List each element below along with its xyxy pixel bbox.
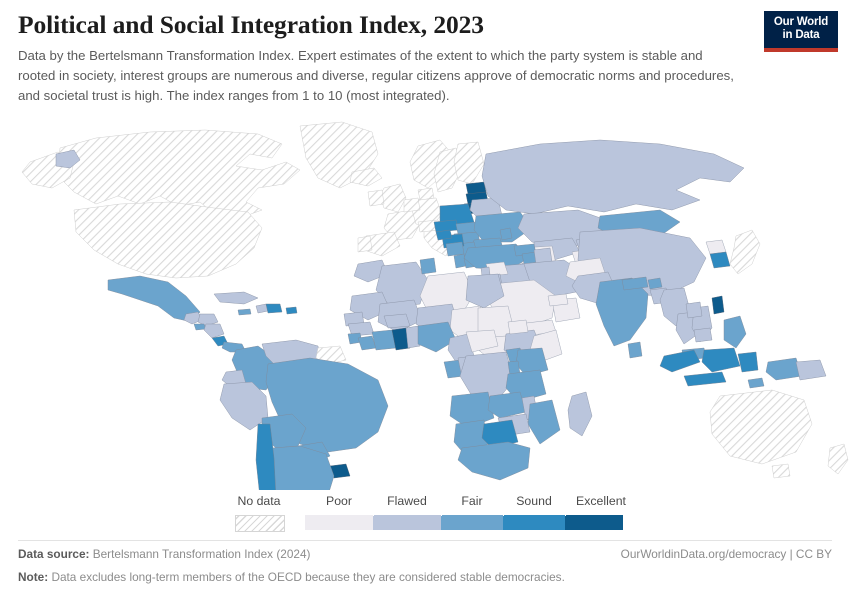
legend-label-sound: Sound — [503, 494, 565, 508]
country-bhutan — [648, 278, 662, 289]
country-denmark — [418, 188, 434, 200]
country-cambodia — [694, 328, 712, 342]
country-portugal — [358, 236, 372, 252]
country-indonesia-borneo — [702, 348, 740, 372]
footer-note-text: Data excludes long-term members of the O… — [51, 570, 564, 584]
country-indonesia-sumatra — [660, 350, 700, 372]
country-russia — [482, 140, 744, 214]
footer-attribution[interactable]: OurWorldinData.org/democracy | CC BY — [621, 545, 832, 563]
footer-source-label: Data source: — [18, 547, 89, 561]
legend-tick-3 — [503, 511, 504, 516]
country-philippines — [724, 316, 746, 348]
country-puerto-rico — [286, 307, 297, 314]
country-cuba — [214, 292, 258, 304]
footer-source-row: Data source: Bertelsmann Transformation … — [18, 545, 832, 563]
country-netherlands-belgium — [404, 198, 420, 212]
country-south-korea — [710, 252, 730, 268]
world-map-svg[interactable] — [0, 118, 850, 490]
legend-tick-2 — [441, 511, 442, 516]
owid-logo[interactable]: Our World in Data — [764, 11, 838, 52]
legend-label-no-data: No data — [227, 494, 291, 508]
legend-swatch-sound[interactable] — [503, 515, 565, 530]
country-australia — [710, 390, 812, 464]
region-north-america[interactable] — [22, 122, 378, 322]
country-slovenia — [436, 230, 452, 240]
page-title: Political and Social Integration Index, … — [18, 10, 758, 40]
legend-swatch-no-data[interactable] — [235, 515, 285, 532]
legend-label-excellent: Excellent — [565, 494, 637, 508]
country-albania — [454, 254, 466, 268]
legend-swatch-poor[interactable] — [305, 515, 373, 530]
country-indonesia-papua — [766, 358, 802, 380]
country-south-africa — [458, 442, 530, 480]
country-czechia — [434, 220, 458, 232]
country-tasmania — [772, 464, 790, 478]
country-united-states — [74, 202, 262, 278]
world-map[interactable] — [0, 118, 850, 490]
region-oceania[interactable] — [710, 390, 848, 478]
country-japan — [730, 230, 760, 274]
country-uae — [548, 294, 568, 306]
country-tunisia — [420, 258, 436, 274]
country-burkina-faso — [384, 314, 410, 328]
country-timor-leste — [748, 378, 764, 388]
country-united-kingdom — [380, 184, 406, 212]
legend-tick-1 — [373, 511, 374, 516]
country-bosnia — [446, 242, 464, 256]
legend-label-poor: Poor — [305, 494, 373, 508]
legend-tick-4 — [565, 511, 566, 516]
legend-swatch-flawed[interactable] — [373, 515, 441, 530]
owid-logo-line2: in Data — [768, 29, 834, 42]
footer-note: Note: Data excludes long-term members of… — [18, 568, 832, 586]
country-finland — [454, 142, 484, 184]
owid-logo-rule — [764, 48, 838, 52]
country-indonesia-sulawesi — [738, 352, 758, 372]
region-south-america[interactable] — [220, 340, 388, 490]
country-nicaragua — [204, 324, 224, 338]
country-jamaica — [238, 309, 251, 315]
legend-label-flawed: Flawed — [373, 494, 441, 508]
legend-swatch-excellent[interactable] — [565, 515, 623, 530]
map-legend: No data Poor Flawed Fair Sound Excellent — [0, 494, 850, 536]
footer-source: Data source: Bertelsmann Transformation … — [18, 545, 310, 563]
country-taiwan — [712, 296, 724, 314]
owid-logo-line1: Our World — [768, 16, 834, 29]
legend-label-fair: Fair — [441, 494, 503, 508]
footer-divider — [18, 540, 832, 541]
country-laos — [686, 302, 702, 318]
footer-note-label: Note: — [18, 570, 48, 584]
legend-swatch-fair[interactable] — [441, 515, 503, 530]
chart-subtitle: Data by the Bertelsmann Transformation I… — [18, 46, 740, 106]
country-mozambique — [528, 400, 560, 444]
owid-logo-box: Our World in Data — [764, 11, 838, 48]
chart-header: Political and Social Integration Index, … — [18, 10, 758, 106]
legend-inner: No data Poor Flawed Fair Sound Excellent — [227, 494, 623, 536]
country-new-zealand — [828, 444, 848, 474]
country-indonesia-java — [684, 372, 726, 386]
chart-footer: Data source: Bertelsmann Transformation … — [18, 545, 832, 587]
country-papua-new-guinea — [796, 360, 826, 380]
owid-map-chart: Political and Social Integration Index, … — [0, 0, 850, 600]
country-dominican-republic — [266, 304, 282, 313]
country-eritrea — [508, 320, 528, 334]
country-sri-lanka — [628, 342, 642, 358]
country-north-korea — [706, 240, 726, 254]
country-madagascar — [568, 392, 592, 436]
country-zambia — [488, 392, 526, 418]
footer-source-text: Bertelsmann Transformation Index (2024) — [93, 547, 311, 561]
country-moldova — [500, 228, 512, 240]
country-ireland — [368, 190, 384, 206]
